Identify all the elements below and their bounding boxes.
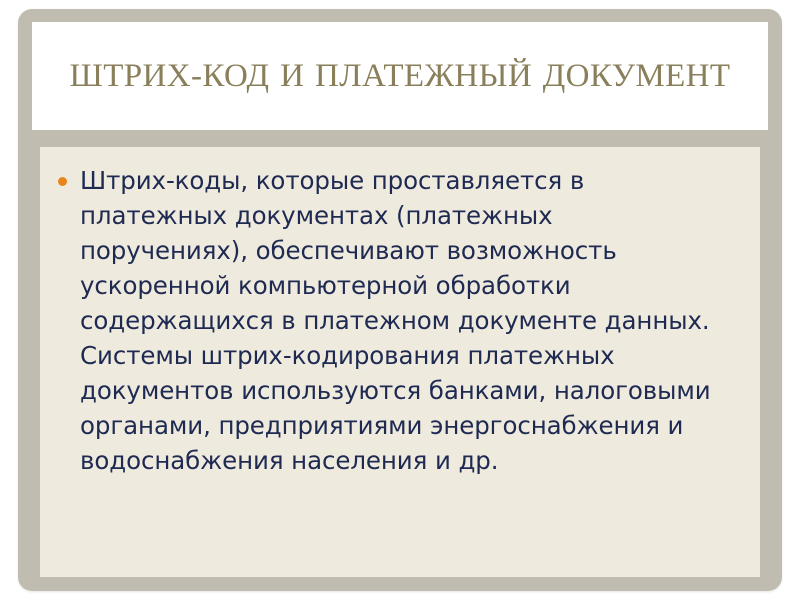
bullet-text: Штрих-коды, которые проставляется в плат… [80, 163, 725, 478]
bullet-dot-icon [58, 177, 67, 186]
slide-title-inner: Штрих-код и платежный документ [46, 57, 754, 95]
list-item: Штрих-коды, которые проставляется в плат… [58, 163, 738, 478]
slide-content-panel: Штрих-коды, которые проставляется в плат… [40, 147, 760, 577]
slide-title-plate: Штрих-код и платежный документ [32, 22, 768, 130]
page-title: Штрих-код и платежный документ [70, 58, 731, 94]
presentation-slide: Штрих-код и платежный документ Штрих-код… [0, 0, 800, 600]
